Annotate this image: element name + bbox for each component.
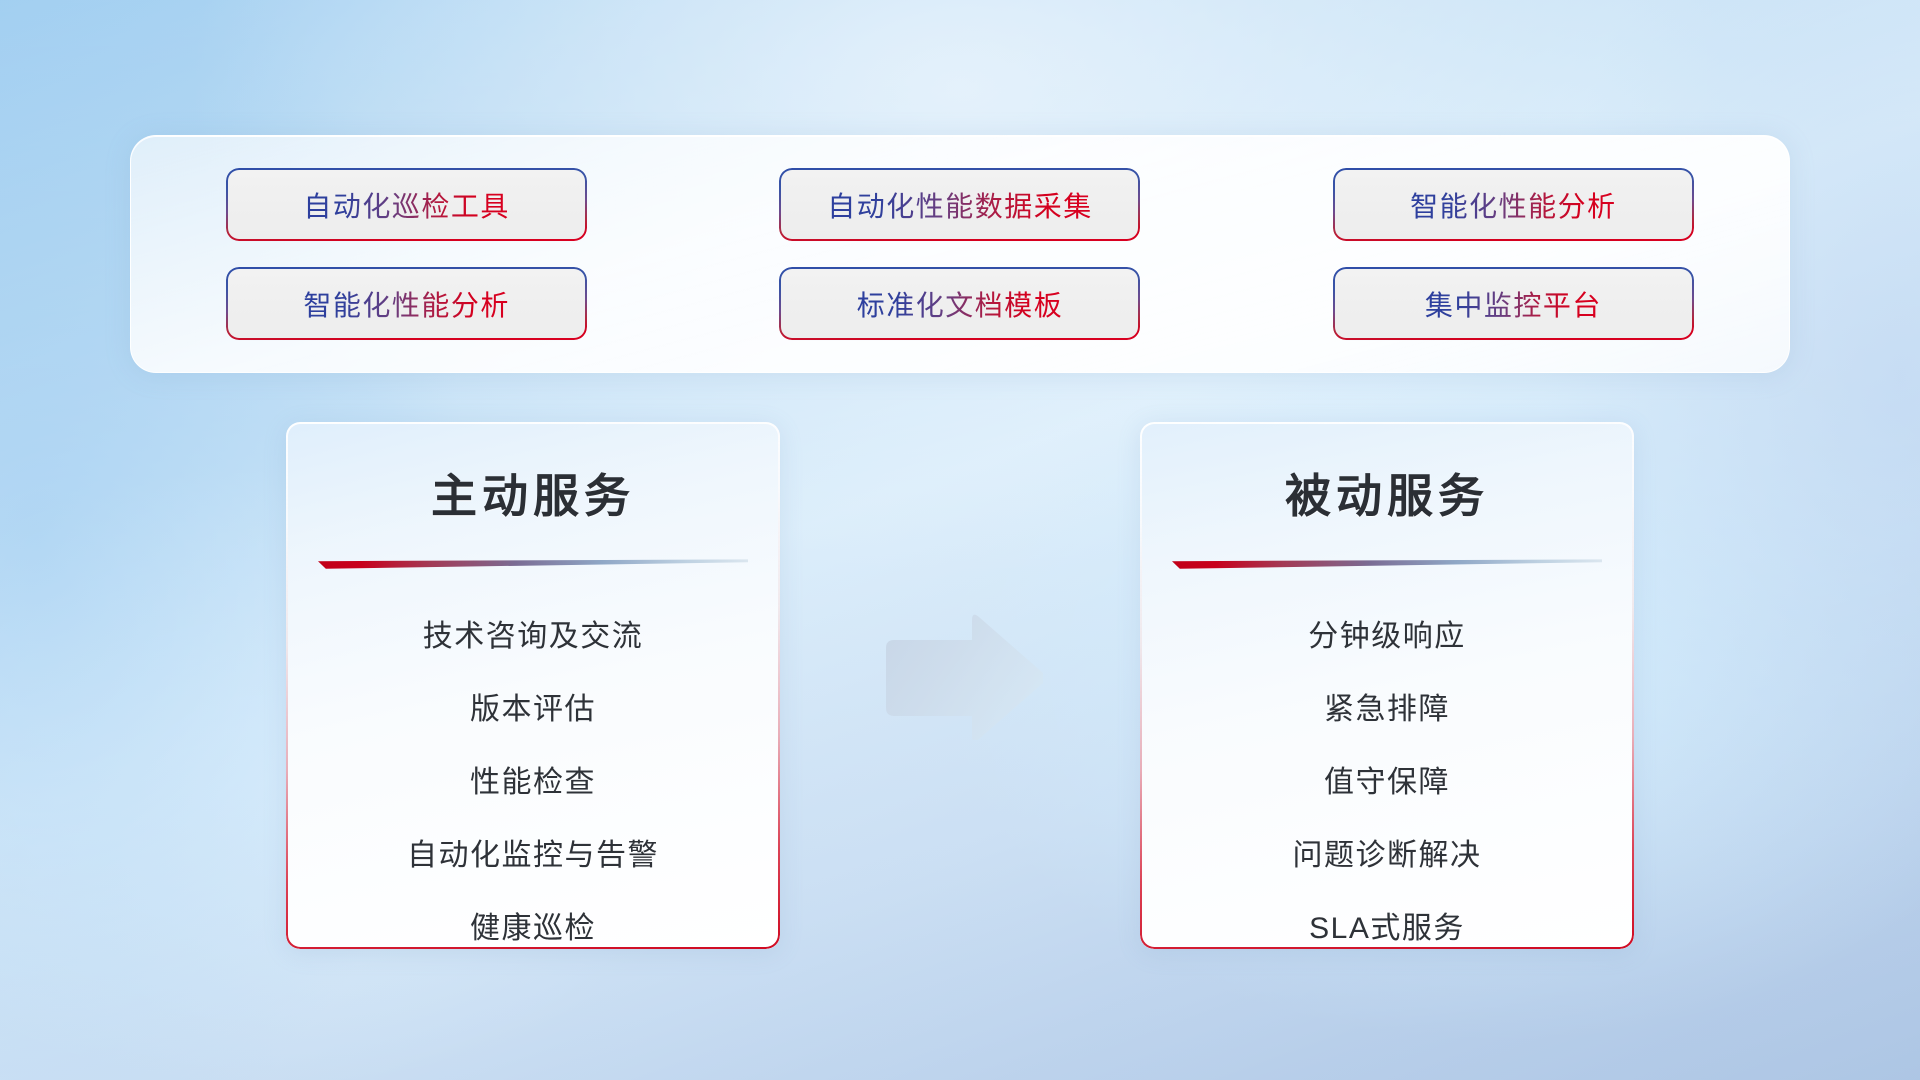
service-list-item: 技术咨询及交流: [312, 600, 754, 673]
pill-cell: 自动化巡检工具: [179, 166, 634, 243]
passive-service-list: 分钟级响应 紧急排障 值守保障 问题诊断解决 SLA式服务: [1166, 570, 1608, 949]
passive-service-card: 被动服务 分钟级响应 紧急排障: [1140, 422, 1634, 949]
capability-pill-4[interactable]: 智能化性能分析: [228, 269, 585, 338]
pill-cell: 自动化性能数据采集: [732, 166, 1187, 243]
service-list-item: 自动化监控与告警: [312, 819, 754, 892]
pill-cell: 智能化性能分析: [1286, 166, 1741, 243]
capability-pill-label: 智能化性能分析: [1410, 185, 1617, 225]
capability-pill-label: 自动化性能数据采集: [827, 185, 1093, 225]
capability-pill-1[interactable]: 自动化巡检工具: [228, 170, 585, 239]
active-service-card: 主动服务 技术咨询及交流 版本评估: [286, 422, 780, 949]
service-list-item: 版本评估: [312, 673, 754, 746]
service-list-item: SLA式服务: [1166, 892, 1608, 949]
service-list-item: 紧急排障: [1166, 673, 1608, 746]
capability-pill-6[interactable]: 集中监控平台: [1335, 269, 1692, 338]
service-list-item: 分钟级响应: [1166, 600, 1608, 673]
service-list-item: 问题诊断解决: [1166, 819, 1608, 892]
service-list-item: 值守保障: [1166, 746, 1608, 819]
capability-pill-label: 标准化文档模板: [857, 284, 1064, 324]
pill-cell: 集中监控平台: [1286, 265, 1741, 342]
service-list-item: 健康巡检: [312, 892, 754, 949]
capability-pill-label: 智能化性能分析: [303, 284, 510, 324]
capability-pill-5[interactable]: 标准化文档模板: [781, 269, 1138, 338]
slide-canvas: 自动化巡检工具 自动化性能数据采集 智能化性能分析 智能化性能分析: [0, 0, 1920, 1080]
arrow-right-icon: [878, 612, 1043, 740]
pill-cell: 智能化性能分析: [179, 265, 634, 342]
pill-cell: 标准化文档模板: [732, 265, 1187, 342]
capability-pill-label: 集中监控平台: [1425, 284, 1602, 324]
capability-tags-panel: 自动化巡检工具 自动化性能数据采集 智能化性能分析 智能化性能分析: [130, 135, 1790, 373]
capability-pill-3[interactable]: 智能化性能分析: [1335, 170, 1692, 239]
capability-pill-2[interactable]: 自动化性能数据采集: [781, 170, 1138, 239]
capability-pill-grid: 自动化巡检工具 自动化性能数据采集 智能化性能分析 智能化性能分析: [179, 166, 1741, 342]
capability-pill-label: 自动化巡检工具: [303, 185, 510, 225]
active-service-list: 技术咨询及交流 版本评估 性能检查 自动化监控与告警 健康巡检: [312, 570, 754, 949]
service-list-item: 性能检查: [312, 746, 754, 819]
title-divider: [318, 558, 748, 570]
title-divider: [1172, 558, 1602, 570]
passive-service-title: 被动服务: [1166, 460, 1608, 526]
active-service-title: 主动服务: [312, 460, 754, 526]
